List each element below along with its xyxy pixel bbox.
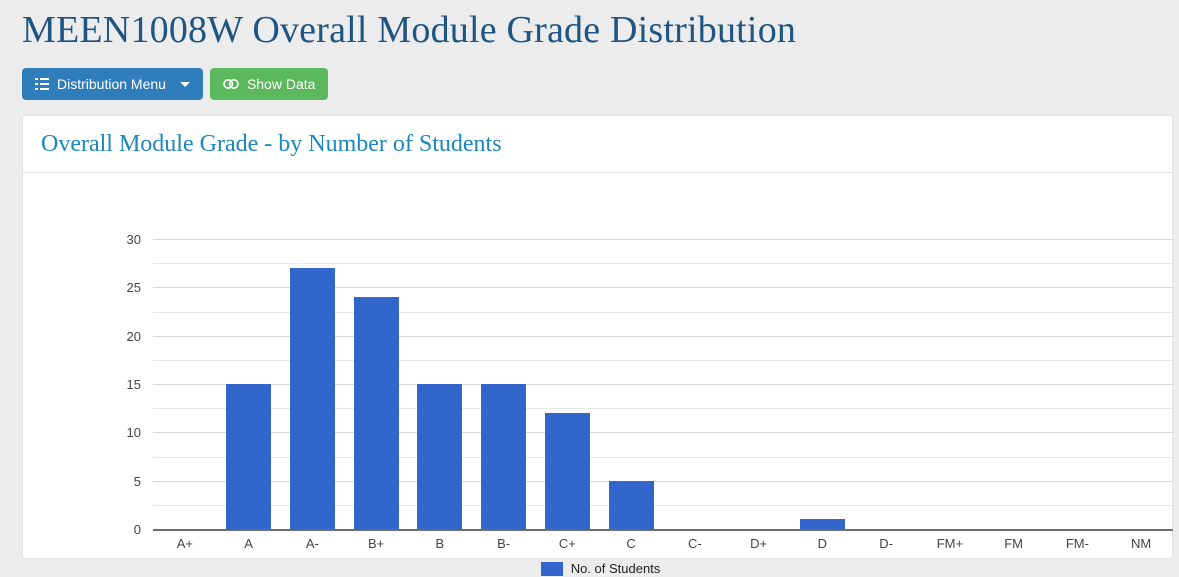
bar-slot bbox=[281, 239, 345, 529]
x-axis-tick-label: B bbox=[408, 537, 472, 551]
y-axis-tick-label: 25 bbox=[101, 281, 141, 294]
list-icon bbox=[35, 77, 49, 91]
bar-slot bbox=[153, 239, 217, 529]
y-axis-tick-label: 30 bbox=[101, 233, 141, 246]
x-axis-tick-label: FM bbox=[982, 537, 1046, 551]
card-title: Overall Module Grade - by Number of Stud… bbox=[41, 130, 502, 158]
distribution-menu-label: Distribution Menu bbox=[57, 76, 166, 92]
x-axis-tick-label: B+ bbox=[344, 537, 408, 551]
bar-C[interactable] bbox=[609, 481, 654, 529]
page-title: MEEN1008W Overall Module Grade Distribut… bbox=[0, 0, 1179, 52]
bar-slot bbox=[982, 239, 1046, 529]
x-axis-tick-label: D bbox=[791, 537, 855, 551]
x-axis-tick-label: A- bbox=[281, 537, 345, 551]
y-axis-tick-label: 5 bbox=[101, 475, 141, 488]
bar-slot bbox=[918, 239, 982, 529]
x-axis-tick-label: A bbox=[217, 537, 281, 551]
bar-slot bbox=[408, 239, 472, 529]
bar-slot bbox=[727, 239, 791, 529]
chevron-down-icon bbox=[180, 82, 190, 87]
bar-D[interactable] bbox=[800, 519, 845, 529]
x-axis-tick-label: B- bbox=[472, 537, 536, 551]
chart-x-axis-line bbox=[153, 529, 1173, 531]
show-data-label: Show Data bbox=[247, 76, 315, 92]
bar-slot bbox=[1109, 239, 1173, 529]
bar-slot bbox=[854, 239, 918, 529]
x-axis-tick-label: D- bbox=[854, 537, 918, 551]
x-axis-tick-label: C- bbox=[663, 537, 727, 551]
distribution-menu-button[interactable]: Distribution Menu bbox=[22, 68, 203, 100]
chart-legend: No. of Students bbox=[23, 562, 1178, 576]
toolbar: Distribution Menu Show Data bbox=[0, 52, 1179, 100]
y-axis-tick-label: 15 bbox=[101, 378, 141, 391]
bar-slot bbox=[217, 239, 281, 529]
legend-label[interactable]: No. of Students bbox=[571, 562, 661, 576]
y-axis-tick-label: 20 bbox=[101, 330, 141, 343]
show-data-button[interactable]: Show Data bbox=[210, 68, 328, 100]
x-axis-tick-label: FM+ bbox=[918, 537, 982, 551]
bar-B[interactable] bbox=[417, 384, 462, 529]
chart-bars bbox=[153, 239, 1173, 529]
toggle-off-icon bbox=[223, 78, 239, 90]
x-axis-tick-label: FM- bbox=[1046, 537, 1110, 551]
y-axis-tick-label: 10 bbox=[101, 426, 141, 439]
x-axis-tick-label: A+ bbox=[153, 537, 217, 551]
x-axis-tick-label: C+ bbox=[536, 537, 600, 551]
legend-swatch bbox=[541, 562, 563, 576]
bar-A[interactable] bbox=[226, 384, 271, 529]
bar-slot bbox=[791, 239, 855, 529]
x-axis-tick-label: NM bbox=[1109, 537, 1173, 551]
bar-chart: 051015202530 A+AA-B+BB-C+CC-D+DD-FM+FMFM… bbox=[23, 173, 1178, 559]
bar-slot bbox=[599, 239, 663, 529]
bar-slot bbox=[536, 239, 600, 529]
y-axis-tick-label: 0 bbox=[101, 523, 141, 536]
bar-slot bbox=[344, 239, 408, 529]
bar-B+[interactable] bbox=[354, 297, 399, 529]
chart-x-axis-labels: A+AA-B+BB-C+CC-D+DD-FM+FMFM-NM bbox=[153, 537, 1173, 551]
x-axis-tick-label: D+ bbox=[727, 537, 791, 551]
bar-slot bbox=[663, 239, 727, 529]
card-body: 051015202530 A+AA-B+BB-C+CC-D+DD-FM+FMFM… bbox=[23, 173, 1172, 559]
bar-slot bbox=[1046, 239, 1110, 529]
x-axis-tick-label: C bbox=[599, 537, 663, 551]
chart-card: Overall Module Grade - by Number of Stud… bbox=[22, 115, 1173, 559]
bar-slot bbox=[472, 239, 536, 529]
card-header: Overall Module Grade - by Number of Stud… bbox=[23, 116, 1172, 173]
bar-C+[interactable] bbox=[545, 413, 590, 529]
bar-A-[interactable] bbox=[290, 268, 335, 529]
bar-B-[interactable] bbox=[481, 384, 526, 529]
